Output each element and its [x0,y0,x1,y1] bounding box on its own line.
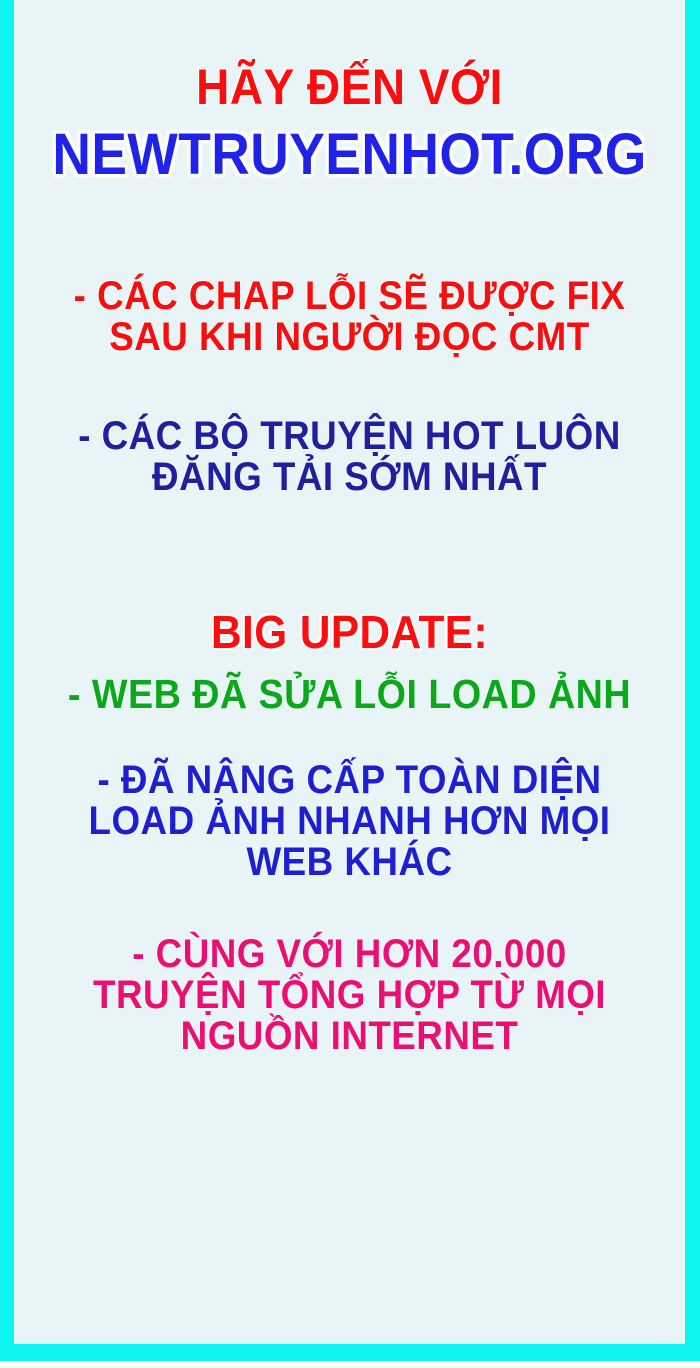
update-line: TRUYỆN TỔNG HỢP TỪ MỌI [41,975,658,1016]
frame-strip-left [0,0,14,1361]
update-line: NGUỒN INTERNET [41,1016,658,1057]
update-line: - CÙNG VỚI HƠN 20.000 [41,934,658,975]
hero-headline: HÃY ĐẾN VỚI [41,62,658,113]
notice-line: SAU KHI NGƯỜI ĐỌC CMT [41,317,658,358]
update-item-blue: - ĐÃ NÂNG CẤP TOÀN DIỆN LOAD ẢNH NHANH H… [14,760,685,882]
notice-line: ĐĂNG TẢI SỚM NHẤT [41,457,658,498]
update-line: - ĐÃ NÂNG CẤP TOÀN DIỆN [41,760,658,801]
update-item-green: - WEB ĐÃ SỬA LỖI LOAD ẢNH [14,674,685,716]
update-section-heading: BIG UPDATE: [41,609,658,656]
notice-block-red: - CÁC CHAP LỖI SẼ ĐƯỢC FIX SAU KHI NGƯỜI… [14,276,685,358]
update-item-pink: - CÙNG VỚI HƠN 20.000 TRUYỆN TỔNG HỢP TỪ… [14,934,685,1056]
notice-block-navy: - CÁC BỘ TRUYỆN HOT LUÔN ĐĂNG TẢI SỚM NH… [14,416,685,498]
update-line: - WEB ĐÃ SỬA LỖI LOAD ẢNH [41,674,658,716]
frame-strip-right [685,0,700,1361]
update-line: WEB KHÁC [41,842,658,883]
promo-banner: HÃY ĐẾN VỚI NEWTRUYENHOT.ORG - CÁC CHAP … [0,0,700,1368]
banner-panel: HÃY ĐẾN VỚI NEWTRUYENHOT.ORG - CÁC CHAP … [14,0,685,1344]
site-name-title[interactable]: NEWTRUYENHOT.ORG [41,125,658,184]
notice-line: - CÁC BỘ TRUYỆN HOT LUÔN [41,416,658,457]
notice-line: - CÁC CHAP LỖI SẼ ĐƯỢC FIX [41,276,658,317]
update-line: LOAD ẢNH NHANH HƠN MỌI [41,801,658,842]
